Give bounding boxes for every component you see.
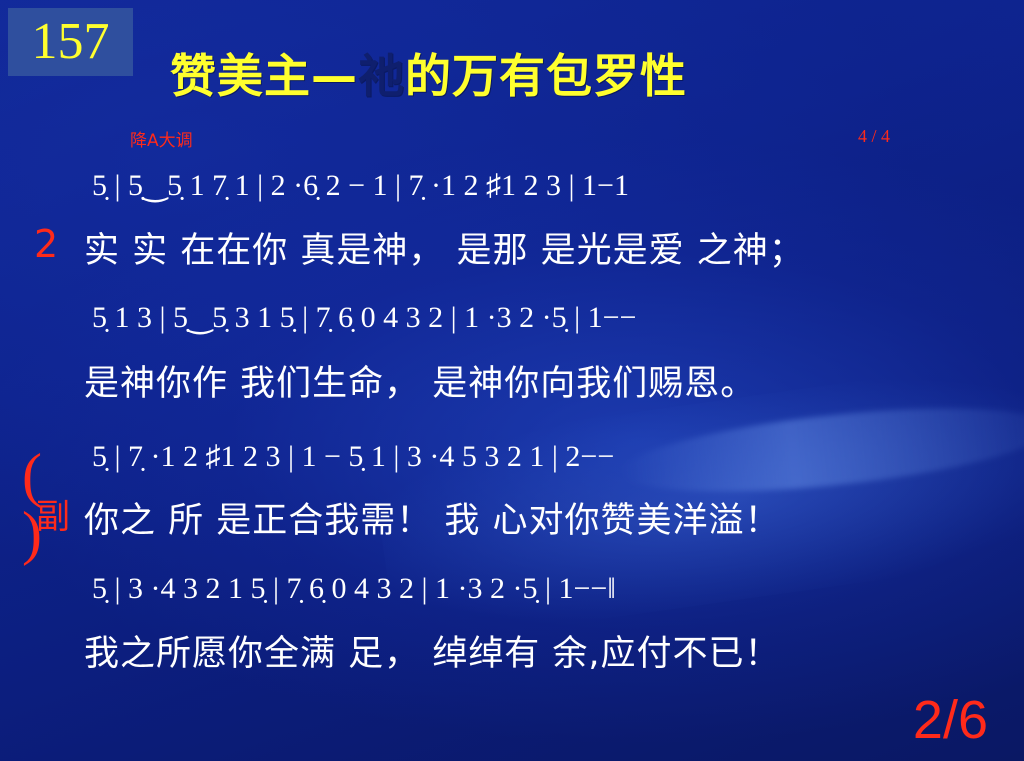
- chorus-paren-bottom: ): [22, 503, 42, 563]
- hymn-number: 157: [32, 16, 110, 68]
- lyrics-line-4: 我之所愿你全满 足， 绰绰有 余,应付不已！: [84, 625, 781, 676]
- title-text-highlight: 祂: [358, 49, 405, 103]
- notation-line-3: 5̣ | 7̣ ·1 2 ♯1 2 3 | 1 − 5̣ 1 | 3 ·4 5 …: [92, 440, 614, 474]
- notation-line-1: 5̣ | 5̣‿5̣ 1 7̣ 1 | 2 ·6̣ 2 − 1 | 7̣ ·1 …: [92, 168, 629, 203]
- notation-line-4: 5̣ | 3 ·4 3 2 1 5̣ | 7̣ 6̣ 0 4 3 2 | 1 ·…: [92, 572, 616, 606]
- title-text-part2: 的万有包罗性: [405, 49, 687, 103]
- chorus-marker: ( 副 ): [22, 455, 84, 555]
- title-text-part1: 赞美主—: [170, 49, 358, 103]
- time-signature: 4 / 4: [858, 126, 890, 147]
- page-number: 2/6: [913, 693, 988, 747]
- key-signature: 降A大调: [130, 126, 193, 151]
- lyrics-line-2: 是神你作 我们生命， 是神你向我们赐恩。: [84, 355, 756, 406]
- page-title: 赞美主—祂的万有包罗性: [170, 50, 890, 102]
- lyrics-line-1: 实 实 在在你 真是神， 是那 是光是爱 之神；: [84, 222, 805, 273]
- verse-marker: 2: [34, 222, 58, 266]
- verse-marker-text: 2: [34, 222, 58, 266]
- lyrics-line-3: 你之 所 是正合我需！ 我 心对你赞美洋溢！: [84, 492, 781, 543]
- hymn-number-badge: 157: [8, 8, 133, 76]
- notation-line-2: 5̣ 1 3 | 5̣‿5̣ 3 1 5̣ | 7̣ 6̣ 0 4 3 2 | …: [92, 300, 636, 335]
